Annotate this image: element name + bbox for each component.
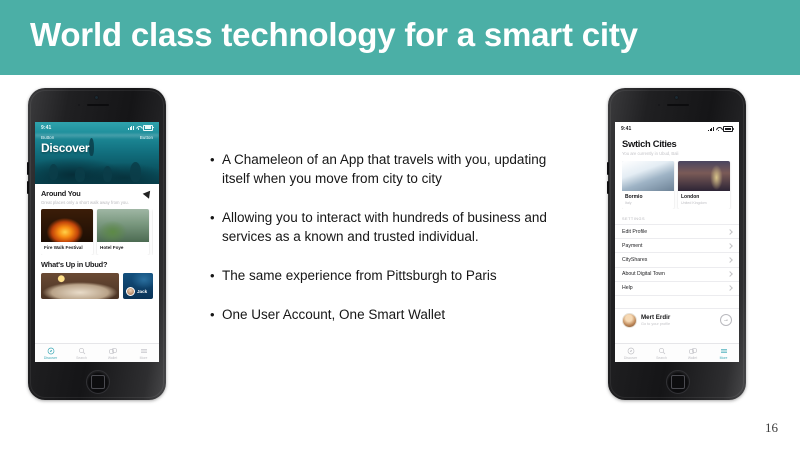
settings-item-label: Help <box>622 285 633 291</box>
city-country: Italy <box>622 200 674 209</box>
tab-wallet[interactable]: Wallet <box>97 347 128 360</box>
search-icon <box>658 347 666 355</box>
around-you-subheading: Great places only a short walk away from… <box>41 200 153 205</box>
menu-icon <box>140 347 148 355</box>
settings-item-help[interactable]: Help <box>615 282 739 296</box>
profile-name: Mert Erdir <box>641 314 670 321</box>
whats-up-cards: Jack <box>41 273 153 299</box>
hero-title: Discover <box>41 141 159 155</box>
chevron-right-icon <box>727 286 733 292</box>
status-bar: 9:41 <box>615 122 739 133</box>
phone-side-button <box>27 162 29 175</box>
switch-cities-header: Swtich Cities You are currently in Ubud,… <box>615 133 739 156</box>
card-thumbnail <box>97 209 149 242</box>
chevron-right-icon <box>727 243 733 249</box>
chevron-right-icon <box>727 271 733 277</box>
list-item[interactable]: Bormio Italy <box>622 161 674 209</box>
hero-right-button[interactable]: Button <box>140 135 153 140</box>
settings-list: Edit Profile Payment CityShares About Di… <box>615 224 739 296</box>
status-bar-indicators <box>128 125 153 131</box>
signal-icon <box>128 126 134 130</box>
tab-discover[interactable]: Discover <box>35 347 66 360</box>
page-number: 16 <box>765 420 778 436</box>
author-tag: Jack <box>126 287 147 296</box>
settings-item-payment[interactable]: Payment <box>615 239 739 253</box>
tab-label: Discover <box>624 356 637 360</box>
city-name: Bormio <box>622 191 674 200</box>
tab-label: More <box>140 356 148 360</box>
around-you-section: Around You Great places only a short wal… <box>35 184 159 255</box>
around-you-heading: Around You <box>41 189 153 198</box>
phone-speaker <box>87 104 109 106</box>
phone-speaker <box>667 104 689 106</box>
settings-item-label: CityShares <box>622 257 647 263</box>
phone-home-button[interactable] <box>86 370 110 394</box>
status-bar-time: 9:41 <box>621 126 631 132</box>
menu-icon <box>720 347 728 355</box>
bullet-text: The same experience from Pittsburgh to P… <box>222 266 497 285</box>
wifi-icon <box>136 126 141 130</box>
tab-label: Search <box>656 356 667 360</box>
tab-search[interactable]: Search <box>66 347 97 360</box>
list-item[interactable]: Fire Walk Festival <box>41 209 93 255</box>
page-title: World class technology for a smart city <box>30 16 638 54</box>
profile-row[interactable]: Mert Erdir Go to your profile → <box>615 308 739 332</box>
avatar <box>622 313 637 328</box>
card-thumbnail <box>678 161 730 191</box>
diver-silhouette-icon <box>130 162 141 182</box>
city-name: London <box>678 191 730 200</box>
author-name: Jack <box>137 289 147 294</box>
go-to-profile-arrow-icon[interactable]: → <box>720 314 732 326</box>
bullet-marker: • <box>210 208 222 227</box>
signal-icon <box>708 127 714 131</box>
tab-label: Wallet <box>688 356 697 360</box>
city-card-list: Bormio Italy London United Kingdom Cangg… <box>622 161 732 209</box>
whats-up-heading: What's Up in Ubud? <box>41 260 153 269</box>
settings-item-edit-profile[interactable]: Edit Profile <box>615 225 739 239</box>
phone-mockup-left: 9:41 Button Button Discover Around You <box>28 88 166 400</box>
list-item: • The same experience from Pittsburgh to… <box>210 266 570 285</box>
diver-silhouette-icon <box>103 166 112 182</box>
wallet-icon <box>689 347 697 355</box>
card-label: Fire Walk Festival <box>41 242 93 255</box>
phone-camera-icon <box>95 96 98 99</box>
city-country: United Kingdom <box>678 200 730 209</box>
list-item[interactable]: London United Kingdom <box>678 161 730 209</box>
tab-wallet[interactable]: Wallet <box>677 347 708 360</box>
profile-subtitle: Go to your profile <box>641 322 670 326</box>
around-you-cards: Fire Walk Festival Hotel Foye Ubud A She… <box>41 209 153 255</box>
status-bar-time: 9:41 <box>41 125 51 131</box>
battery-icon <box>143 125 153 131</box>
search-icon <box>78 347 86 355</box>
list-item: • Allowing you to interact with hundreds… <box>210 208 570 246</box>
tab-more[interactable]: More <box>128 347 159 360</box>
phone-sensor-icon <box>78 104 80 106</box>
phone-mockup-right: 9:41 Swtich Cities You are currently in … <box>608 88 746 400</box>
phone-side-button <box>607 181 609 194</box>
compass-icon <box>627 347 635 355</box>
switch-cities-title: Swtich Cities <box>622 138 732 149</box>
phone-side-button <box>27 181 29 194</box>
discover-hero: 9:41 Button Button Discover <box>35 122 159 184</box>
card-label: Hotel Foye <box>97 242 149 255</box>
tab-bar: Discover Search Wallet <box>35 343 159 362</box>
tab-more[interactable]: More <box>708 347 739 360</box>
tab-bar: Discover Search Wallet <box>615 343 739 362</box>
chevron-right-icon <box>727 257 733 263</box>
tab-search[interactable]: Search <box>646 347 677 360</box>
list-item: • A Chameleon of an App that travels wit… <box>210 150 570 188</box>
tab-label: Search <box>76 356 87 360</box>
phone-sensor-icon <box>658 104 660 106</box>
hero-left-button[interactable]: Button <box>41 135 54 140</box>
switch-cities-subtitle: You are currently in Ubud, Bali <box>622 151 732 156</box>
chevron-right-icon <box>727 229 733 235</box>
status-bar: 9:41 <box>35 122 159 133</box>
battery-icon <box>723 126 733 132</box>
list-item[interactable]: Jack <box>123 273 153 299</box>
settings-item-label: Payment <box>622 243 642 249</box>
list-item[interactable]: Hotel Foye <box>97 209 149 255</box>
phone-screen-right: 9:41 Swtich Cities You are currently in … <box>615 122 739 362</box>
phone-screen-left: 9:41 Button Button Discover Around You <box>35 122 159 362</box>
list-item[interactable] <box>41 273 119 299</box>
settings-item-cityshares[interactable]: CityShares <box>615 253 739 267</box>
card-thumbnail <box>41 209 93 242</box>
tab-label: Wallet <box>108 356 117 360</box>
bullet-text: One User Account, One Smart Wallet <box>222 305 445 324</box>
bullet-marker: • <box>210 266 222 285</box>
bullet-text: Allowing you to interact with hundreds o… <box>222 208 570 246</box>
tab-discover[interactable]: Discover <box>615 347 646 360</box>
card-thumbnail <box>622 161 674 191</box>
bullet-text: A Chameleon of an App that travels with … <box>222 150 570 188</box>
wallet-icon <box>109 347 117 355</box>
diver-silhouette-icon <box>49 164 58 180</box>
diver-silhouette-icon <box>75 167 85 182</box>
compass-icon <box>47 347 55 355</box>
wifi-icon <box>716 127 721 131</box>
tab-label: Discover <box>44 356 57 360</box>
status-bar-indicators <box>708 126 733 132</box>
settings-item-about-digital-town[interactable]: About Digital Town <box>615 268 739 282</box>
hero-button-row: Button Button <box>35 133 159 140</box>
phone-camera-icon <box>675 96 678 99</box>
avatar <box>126 287 135 296</box>
settings-section-label: SETTINGS <box>615 209 739 224</box>
bullet-marker: • <box>210 150 222 169</box>
settings-item-label: About Digital Town <box>622 271 665 277</box>
title-banner: World class technology for a smart city <box>0 0 800 75</box>
settings-item-label: Edit Profile <box>622 229 647 235</box>
list-item: • One User Account, One Smart Wallet <box>210 305 570 324</box>
bullet-list: • A Chameleon of an App that travels wit… <box>210 150 570 344</box>
profile-text-block: Mert Erdir Go to your profile <box>641 314 670 326</box>
phone-home-button[interactable] <box>666 370 690 394</box>
whats-up-section: What's Up in Ubud? Jack <box>35 255 159 299</box>
bullet-marker: • <box>210 305 222 324</box>
phone-side-button <box>607 162 609 175</box>
tab-label: More <box>720 356 728 360</box>
